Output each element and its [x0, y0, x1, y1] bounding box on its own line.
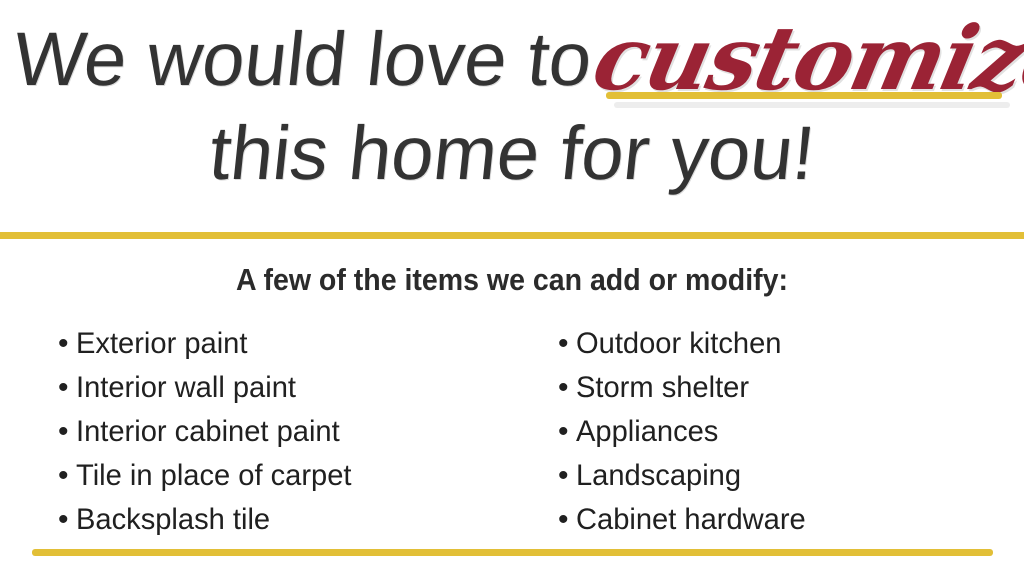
bullet-icon: • [58, 366, 76, 410]
features-column-right: • Outdoor kitchen • Storm shelter • Appl… [558, 322, 813, 542]
divider-rule-bottom [32, 549, 993, 556]
list-item: • Interior cabinet paint [58, 410, 360, 454]
bullet-icon: • [58, 322, 76, 366]
accent-underline [606, 92, 1002, 99]
bullet-icon: • [58, 454, 76, 498]
bullet-icon: • [558, 454, 576, 498]
divider-rule-top [0, 232, 1024, 239]
features-column-left: • Exterior paint • Interior wall paint •… [58, 322, 360, 542]
headline-accent-word: customize [586, 12, 1024, 104]
bullet-icon: • [558, 322, 576, 366]
promo-graphic: We would love to customize this home for… [0, 0, 1024, 565]
bullet-icon: • [58, 410, 76, 454]
subtitle-heading: A few of the items we can add or modify: [41, 261, 983, 299]
list-item-label: Interior cabinet paint [76, 410, 340, 454]
list-item-label: Landscaping [576, 454, 741, 498]
list-item-label: Interior wall paint [76, 366, 296, 410]
list-item: • Backsplash tile [58, 498, 360, 542]
list-item: • Storm shelter [558, 366, 813, 410]
list-item: • Landscaping [558, 454, 813, 498]
bullet-icon: • [558, 366, 576, 410]
list-item-label: Exterior paint [76, 322, 247, 366]
list-item: • Cabinet hardware [558, 498, 813, 542]
list-item-label: Outdoor kitchen [576, 322, 781, 366]
list-item: • Tile in place of carpet [58, 454, 360, 498]
list-item: • Interior wall paint [58, 366, 360, 410]
bullet-icon: • [558, 498, 576, 542]
headline-lead-text: We would love to [9, 14, 596, 106]
list-item-label: Appliances [576, 410, 718, 454]
list-item: • Outdoor kitchen [558, 322, 813, 366]
list-item-label: Storm shelter [576, 366, 749, 410]
headline-line-2-text: this home for you! [205, 108, 819, 200]
list-item-label: Backsplash tile [76, 498, 270, 542]
list-item: • Appliances [558, 410, 813, 454]
bullet-icon: • [58, 498, 76, 542]
headline-block: We would love to customize this home for… [0, 0, 1024, 226]
list-item: • Exterior paint [58, 322, 360, 366]
features-columns: • Exterior paint • Interior wall paint •… [0, 322, 1024, 542]
bullet-icon: • [558, 410, 576, 454]
list-item-label: Tile in place of carpet [76, 454, 352, 498]
list-item-label: Cabinet hardware [576, 498, 806, 542]
headline-line-2: this home for you! [0, 108, 1024, 200]
